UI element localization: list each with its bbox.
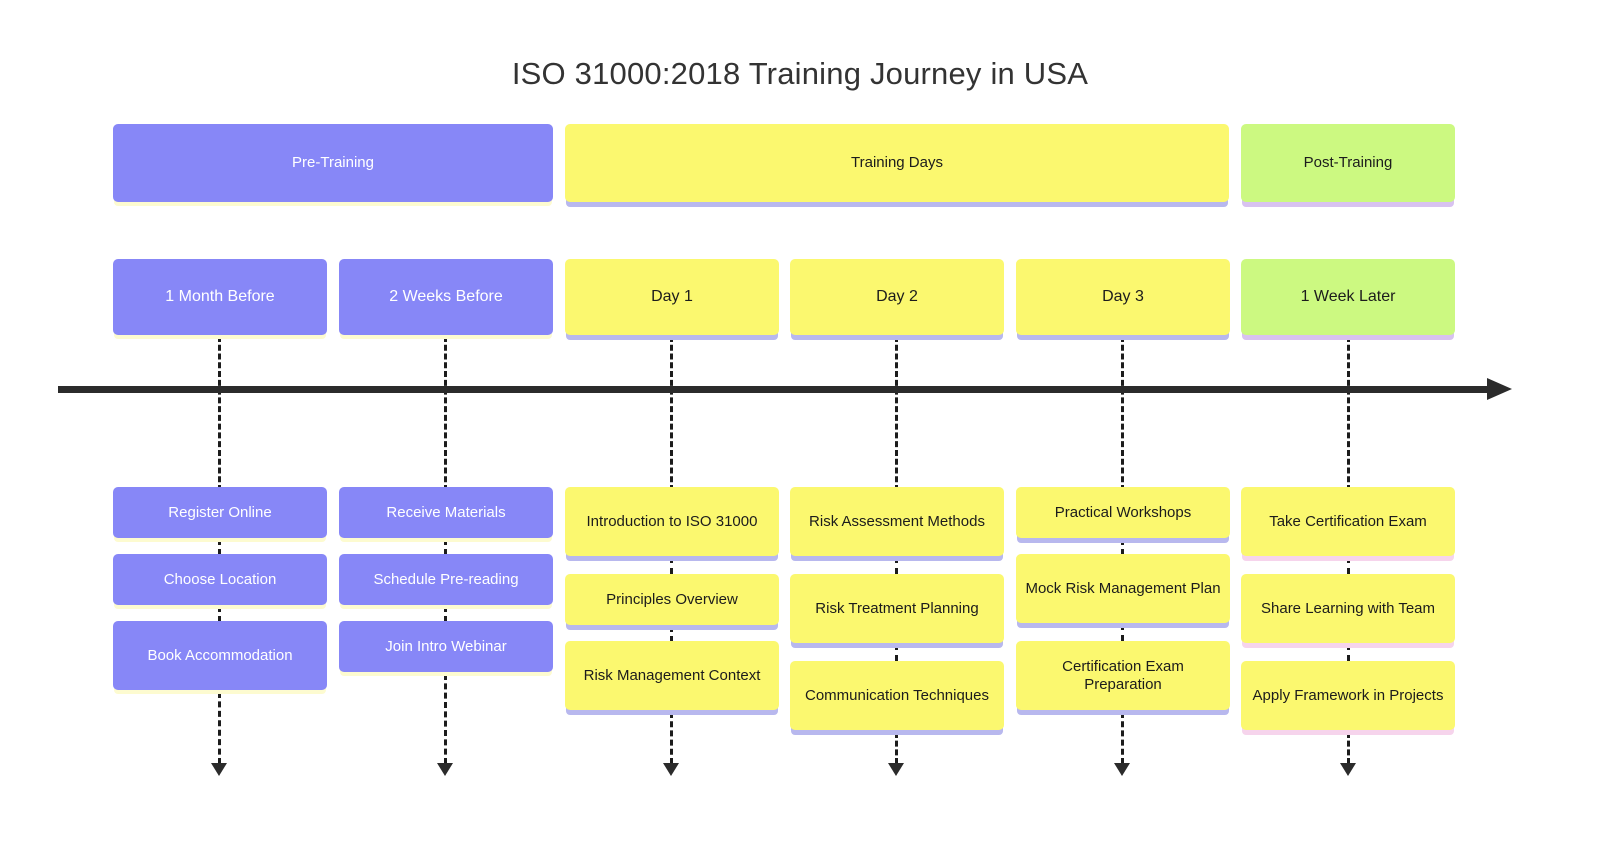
task-card[interactable]: Principles Overview — [565, 574, 779, 625]
phase-band-post-training[interactable]: Post-Training — [1241, 124, 1455, 202]
connector-line — [1347, 644, 1350, 661]
phase-band-training-days[interactable]: Training Days — [565, 124, 1229, 202]
period-2-weeks-before[interactable]: 2 Weeks Before — [339, 259, 553, 335]
period-day-2[interactable]: Day 2 — [790, 259, 1004, 335]
task-label: Receive Materials — [347, 504, 545, 522]
connector-line — [895, 336, 898, 491]
flow-arrow-icon — [663, 763, 679, 776]
connector-line — [444, 606, 447, 622]
connector-line — [1347, 336, 1350, 491]
task-label: Register Online — [121, 504, 319, 522]
connector-line — [670, 626, 673, 642]
task-card[interactable]: Receive Materials — [339, 487, 553, 538]
timeline-axis-line — [58, 386, 1490, 393]
connector-line — [218, 539, 221, 555]
task-label: Risk Management Context — [573, 667, 771, 685]
task-card[interactable]: Certification Exam Preparation — [1016, 641, 1230, 710]
task-label: Take Certification Exam — [1249, 513, 1447, 531]
task-card[interactable]: Register Online — [113, 487, 327, 538]
task-card[interactable]: Take Certification Exam — [1241, 487, 1455, 556]
task-card[interactable]: Apply Framework in Projects — [1241, 661, 1455, 730]
task-card[interactable]: Book Accommodation — [113, 621, 327, 690]
task-label: Book Accommodation — [121, 647, 319, 665]
period-label: Day 3 — [1024, 288, 1222, 307]
task-card[interactable]: Risk Assessment Methods — [790, 487, 1004, 556]
phase-label: Post-Training — [1249, 154, 1447, 172]
period-day-3[interactable]: Day 3 — [1016, 259, 1230, 335]
task-label: Risk Assessment Methods — [798, 513, 996, 531]
task-card[interactable]: Risk Management Context — [565, 641, 779, 710]
page-title: ISO 31000:2018 Training Journey in USA — [0, 56, 1600, 92]
connector-line — [1121, 539, 1124, 555]
task-label: Mock Risk Management Plan — [1024, 580, 1222, 598]
task-card[interactable]: Schedule Pre-reading — [339, 554, 553, 605]
connector-line — [444, 539, 447, 555]
connector-line — [670, 557, 673, 574]
timeline-arrow-icon — [1487, 378, 1512, 400]
task-label: Certification Exam Preparation — [1024, 658, 1222, 693]
task-label: Schedule Pre-reading — [347, 571, 545, 589]
connector-line — [1121, 712, 1124, 764]
task-label: Communication Techniques — [798, 687, 996, 705]
task-card[interactable]: Risk Treatment Planning — [790, 574, 1004, 643]
connector-line — [895, 557, 898, 574]
period-1-week-later[interactable]: 1 Week Later — [1241, 259, 1455, 335]
task-card[interactable]: Practical Workshops — [1016, 487, 1230, 538]
flow-arrow-icon — [437, 763, 453, 776]
connector-line — [1121, 624, 1124, 641]
flow-arrow-icon — [888, 763, 904, 776]
period-label: Day 1 — [573, 288, 771, 307]
connector-line — [1347, 557, 1350, 574]
task-card[interactable]: Introduction to ISO 31000 — [565, 487, 779, 556]
period-label: Day 2 — [798, 288, 996, 307]
phase-label: Pre-Training — [121, 154, 545, 172]
task-label: Introduction to ISO 31000 — [573, 513, 771, 531]
task-card[interactable]: Communication Techniques — [790, 661, 1004, 730]
task-label: Share Learning with Team — [1249, 600, 1447, 618]
timeline-diagram: ISO 31000:2018 Training Journey in USA P… — [0, 0, 1600, 848]
connector-line — [218, 336, 221, 491]
connector-line — [895, 644, 898, 661]
connector-line — [670, 712, 673, 764]
task-card[interactable]: Choose Location — [113, 554, 327, 605]
period-label: 1 Week Later — [1249, 288, 1447, 307]
flow-arrow-icon — [1114, 763, 1130, 776]
period-day-1[interactable]: Day 1 — [565, 259, 779, 335]
connector-line — [444, 674, 447, 764]
connector-line — [218, 692, 221, 764]
task-label: Principles Overview — [573, 591, 771, 609]
connector-line — [670, 336, 673, 491]
task-card[interactable]: Join Intro Webinar — [339, 621, 553, 672]
connector-line — [1347, 732, 1350, 764]
task-label: Join Intro Webinar — [347, 638, 545, 656]
flow-arrow-icon — [1340, 763, 1356, 776]
period-label: 1 Month Before — [121, 288, 319, 307]
connector-line — [218, 606, 221, 622]
connector-line — [1121, 336, 1124, 491]
phase-label: Training Days — [573, 154, 1221, 172]
connector-line — [895, 732, 898, 764]
task-label: Risk Treatment Planning — [798, 600, 996, 618]
task-label: Choose Location — [121, 571, 319, 589]
task-label: Apply Framework in Projects — [1249, 687, 1447, 705]
period-1-month-before[interactable]: 1 Month Before — [113, 259, 327, 335]
connector-line — [444, 336, 447, 491]
task-card[interactable]: Mock Risk Management Plan — [1016, 554, 1230, 623]
period-label: 2 Weeks Before — [347, 288, 545, 307]
flow-arrow-icon — [211, 763, 227, 776]
task-label: Practical Workshops — [1024, 504, 1222, 522]
task-card[interactable]: Share Learning with Team — [1241, 574, 1455, 643]
phase-band-pre-training[interactable]: Pre-Training — [113, 124, 553, 202]
